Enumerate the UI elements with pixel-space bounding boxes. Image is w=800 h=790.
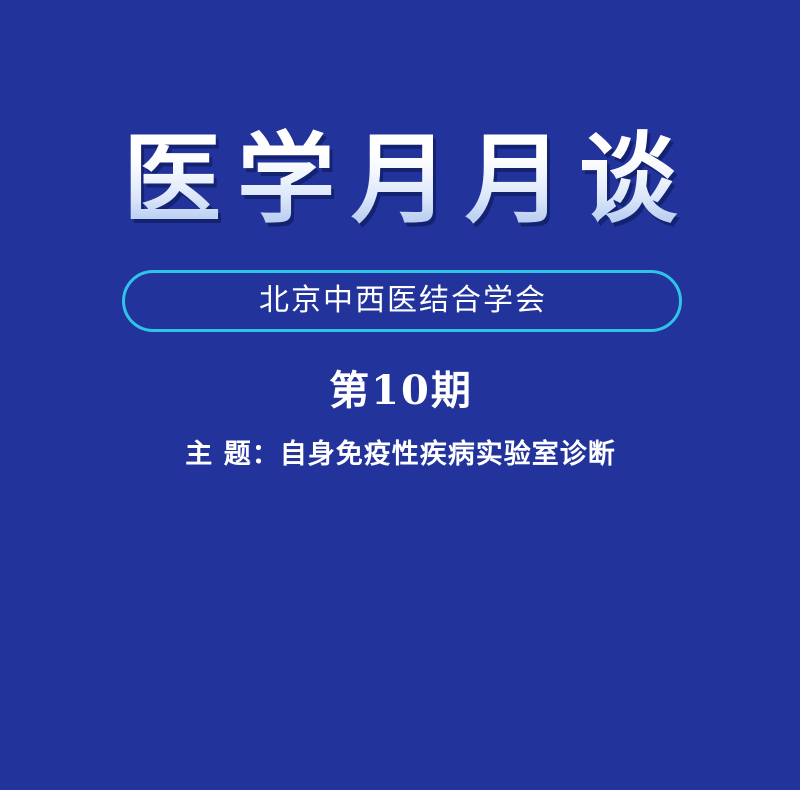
- organization-pill: 北京中西医结合学会: [122, 270, 682, 332]
- organization-name: 北京中西医结合学会: [257, 286, 547, 316]
- empty-lower-area: [0, 500, 800, 790]
- title-block: 医学月月谈: [0, 128, 800, 232]
- page-title: 医学月月谈: [107, 128, 693, 232]
- issue-number: 第10期: [0, 371, 800, 411]
- topic-line: 主 题：自身免疫性疾病实验室诊断: [0, 440, 800, 470]
- poster-canvas: 医学月月谈 北京中西医结合学会 第10期 主 题：自身免疫性疾病实验室诊断: [0, 0, 800, 790]
